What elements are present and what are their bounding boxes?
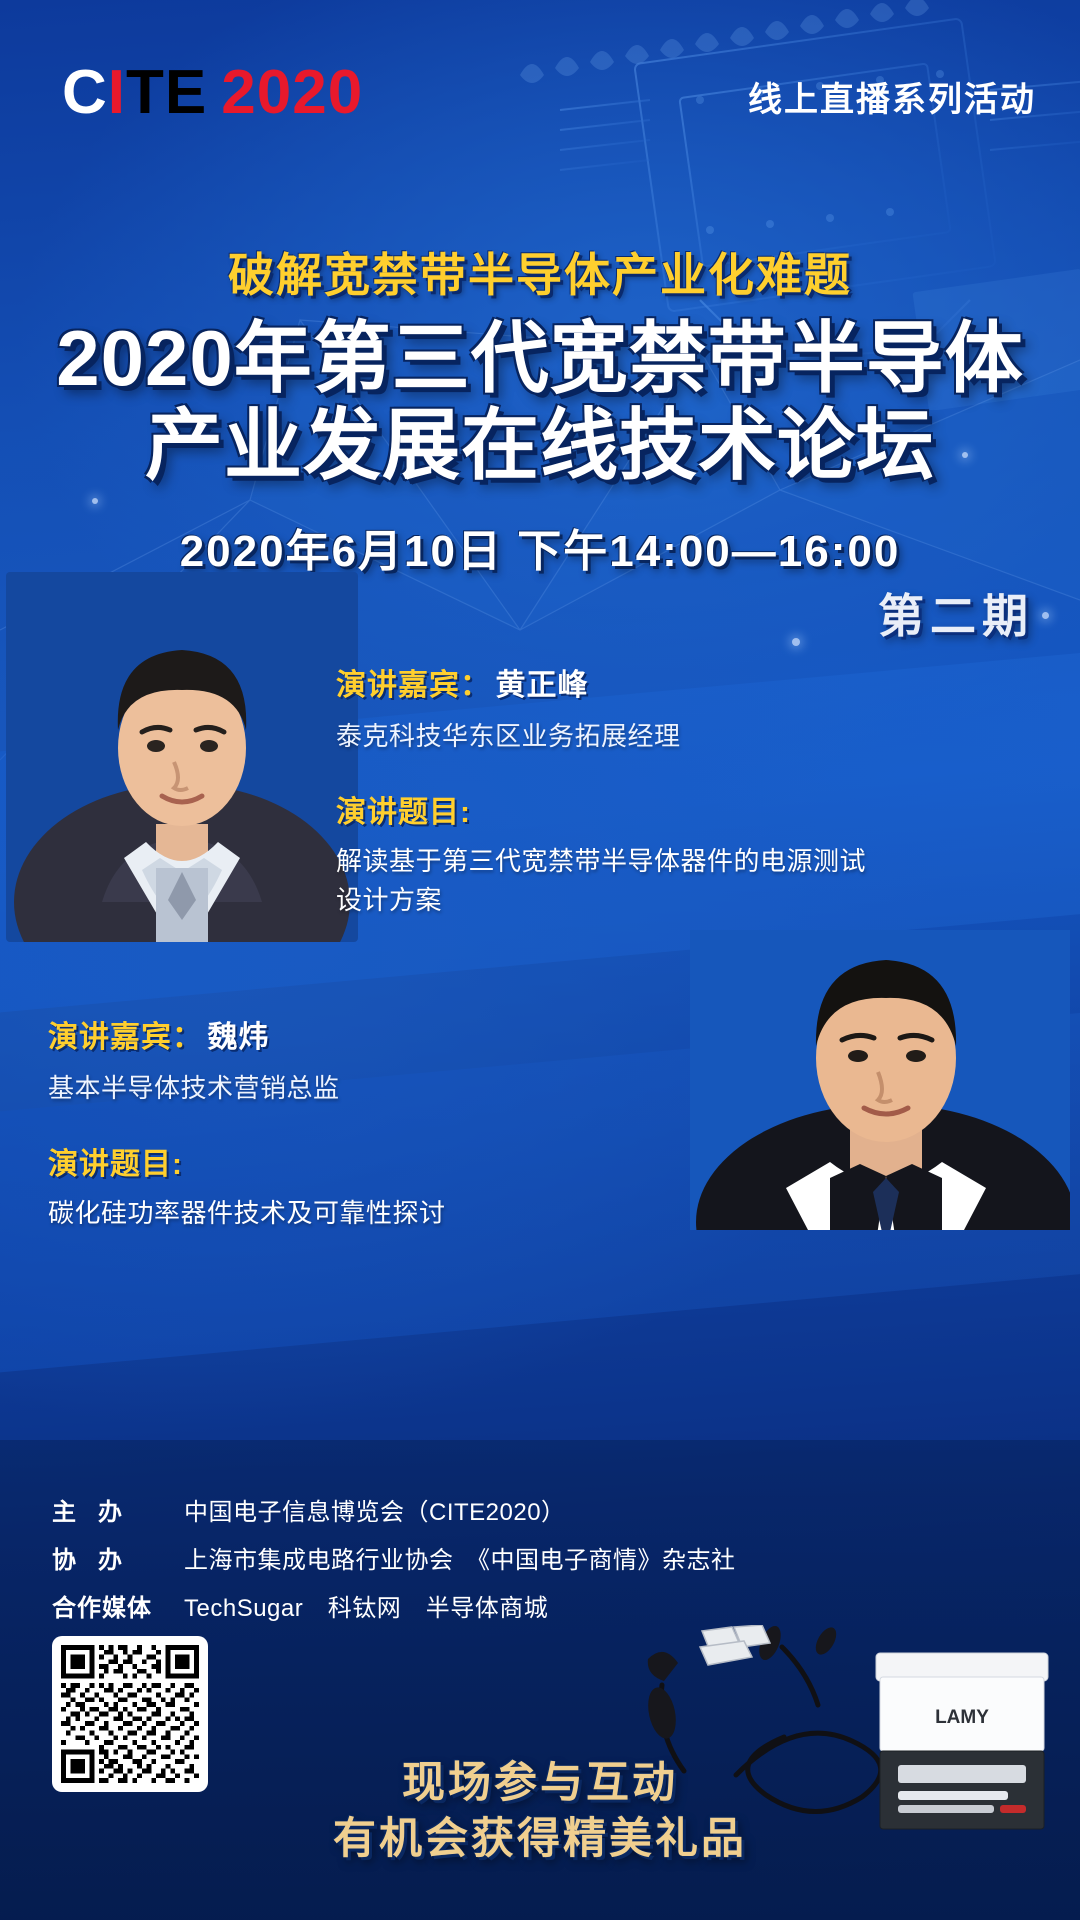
speaker-2-portrait: [690, 930, 1070, 1230]
logo-letters-te: TE: [126, 58, 207, 127]
speaker-2-role: 基本半导体技术营销总监: [48, 1068, 568, 1105]
speaker-2-guest-label: 演讲嘉宾：: [48, 1021, 203, 1054]
speaker-1-name: 黄正峰: [495, 669, 588, 702]
qr-code[interactable]: [52, 1636, 208, 1792]
sparkle-dot: [1042, 612, 1049, 619]
credit-row: 协办 上海市集成电路行业协会 《中国电子商情》杂志社: [52, 1540, 772, 1575]
speaker-1-info: 演讲嘉宾： 黄正峰 泰克科技华东区业务拓展经理 演讲题目: 解读基于第三代宽禁带…: [336, 660, 896, 919]
event-datetime: 2020年6月10日 下午14:00—16:00: [0, 515, 1080, 579]
poster-root: CITE2020 线上直播系列活动 破解宽禁带半导体产业化难题 2020年第三代…: [0, 0, 1080, 1920]
poster-title-line-1: 2020年第三代宽禁带半导体: [0, 315, 1080, 402]
speaker-1-guest-label: 演讲嘉宾：: [336, 669, 491, 702]
credit-row: 合作媒体 TechSugar 科钛网 半导体商城: [52, 1588, 772, 1623]
credit-key-coorganizer: 协办: [52, 1540, 184, 1575]
speaker-2-topic-label: 演讲题目:: [48, 1139, 568, 1183]
speaker-1-topic-line-1: 解读基于第三代宽禁带半导体器件的电源测试: [336, 843, 896, 880]
credit-value-host: 中国电子信息博览会（CITE2020）: [184, 1492, 566, 1527]
logo-year: 2020: [221, 58, 363, 127]
speaker-2-info: 演讲嘉宾： 魏炜 基本半导体技术营销总监 演讲题目: 碳化硅功率器件技术及可靠性…: [48, 1012, 568, 1232]
live-series-label: 线上直播系列活动: [748, 72, 1036, 121]
credit-key-media: 合作媒体: [52, 1588, 184, 1623]
cite-logo: CITE2020: [62, 62, 363, 124]
credit-value-coorganizer: 上海市集成电路行业协会 《中国电子商情》杂志社: [184, 1540, 736, 1575]
speaker-2-topic-line-1: 碳化硅功率器件技术及可靠性探讨: [48, 1195, 568, 1232]
lamy-brand-text: LAMY: [935, 1707, 989, 1728]
credit-value-media: TechSugar 科钛网 半导体商城: [184, 1588, 548, 1623]
credits-block: 主办 中国电子信息博览会（CITE2020） 协办 上海市集成电路行业协会 《中…: [52, 1492, 772, 1636]
logo-letter-i: I: [108, 58, 126, 127]
speaker-1-topic-label: 演讲题目:: [336, 787, 896, 831]
speaker-2-name: 魏炜: [207, 1021, 269, 1054]
credit-key-host: 主办: [52, 1492, 184, 1527]
sparkle-dot: [792, 638, 800, 646]
credit-row: 主办 中国电子信息博览会（CITE2020）: [52, 1492, 772, 1527]
poster-subtitle: 破解宽禁带半导体产业化难题: [0, 250, 1080, 301]
speaker-1-topic-line-2: 设计方案: [336, 882, 896, 919]
qr-code-image: [61, 1645, 199, 1783]
speaker-2-photo: [690, 930, 1070, 1230]
title-block: 破解宽禁带半导体产业化难题 2020年第三代宽禁带半导体 产业发展在线技术论坛 …: [0, 250, 1080, 579]
poster-title-line-2: 产业发展在线技术论坛: [0, 402, 1080, 489]
speaker-1-role: 泰克科技华东区业务拓展经理: [336, 716, 896, 753]
speaker-1-photo: [6, 572, 358, 942]
episode-badge: 第二期: [878, 580, 1034, 646]
lamy-pen-box: LAMY: [876, 1653, 1048, 1829]
speaker-1-portrait: [6, 572, 358, 942]
gift-prize-graphic: LAMY: [640, 1625, 1060, 1840]
poster-header: CITE2020 线上直播系列活动: [0, 0, 1080, 190]
logo-letter-c: C: [62, 58, 108, 127]
